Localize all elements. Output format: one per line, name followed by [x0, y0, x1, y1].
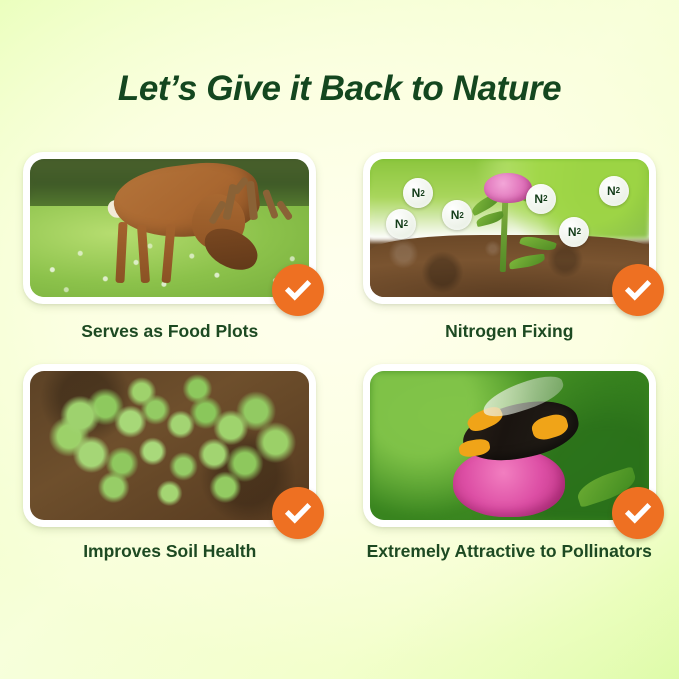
- page-title: Let’s Give it Back to Nature: [0, 69, 679, 109]
- photo-card: [363, 364, 656, 527]
- molecule-symbol: N: [534, 192, 543, 206]
- molecule-subscript: 2: [616, 186, 620, 195]
- clover-bloom: [484, 173, 531, 203]
- seedling-sprouts: [30, 371, 309, 520]
- nitrogen-molecule-bubble: N2: [526, 184, 556, 214]
- card-row-bottom: Improves Soil Health: [0, 364, 679, 562]
- benefit-card-nitrogen-fixing[interactable]: N2 N2 N2 N2 N2 N2 Nitrogen: [340, 152, 679, 342]
- molecule-subscript: 2: [543, 194, 547, 203]
- benefit-card-soil-health[interactable]: Improves Soil Health: [0, 364, 340, 562]
- molecule-subscript: 2: [577, 227, 581, 236]
- bee-photo: [370, 371, 649, 520]
- molecule-symbol: N: [568, 225, 577, 239]
- benefit-card-pollinators[interactable]: Extremely Attractive to Pollinators: [340, 364, 679, 562]
- molecule-symbol: N: [451, 208, 460, 222]
- card-caption: Extremely Attractive to Pollinators: [367, 541, 652, 562]
- molecule-subscript: 2: [404, 219, 408, 228]
- card-image-wrap: [363, 364, 656, 527]
- molecule-symbol: N: [607, 184, 616, 198]
- molecule-subscript: 2: [420, 189, 424, 198]
- seedling-photo: [30, 371, 309, 520]
- nitrogen-photo: N2 N2 N2 N2 N2 N2: [370, 159, 649, 297]
- infographic-poster: Let’s Give it Back to Nature: [0, 0, 679, 679]
- check-icon: [283, 498, 313, 528]
- card-row-top: Serves as Food Plots: [0, 152, 679, 342]
- benefit-card-grid: Serves as Food Plots: [0, 152, 679, 562]
- benefit-card-food-plots[interactable]: Serves as Food Plots: [0, 152, 340, 342]
- nitrogen-molecule-bubble: N2: [386, 209, 416, 239]
- check-badge: [272, 487, 324, 539]
- photo-card: [23, 364, 316, 527]
- check-badge: [612, 487, 664, 539]
- check-icon: [623, 498, 653, 528]
- card-caption: Nitrogen Fixing: [445, 321, 573, 342]
- card-image-wrap: N2 N2 N2 N2 N2 N2: [363, 152, 656, 304]
- molecule-subscript: 2: [459, 211, 463, 220]
- card-image-wrap: [23, 364, 316, 527]
- check-icon: [623, 275, 653, 305]
- card-caption: Serves as Food Plots: [81, 321, 258, 342]
- check-badge: [612, 264, 664, 316]
- check-icon: [283, 275, 313, 305]
- molecule-symbol: N: [395, 217, 404, 231]
- photo-card: N2 N2 N2 N2 N2 N2: [363, 152, 656, 304]
- nitrogen-molecule-bubble: N2: [599, 176, 629, 206]
- deer-photo: [30, 159, 309, 297]
- card-caption: Improves Soil Health: [83, 541, 256, 562]
- check-badge: [272, 264, 324, 316]
- card-image-wrap: [23, 152, 316, 304]
- molecule-symbol: N: [412, 186, 421, 200]
